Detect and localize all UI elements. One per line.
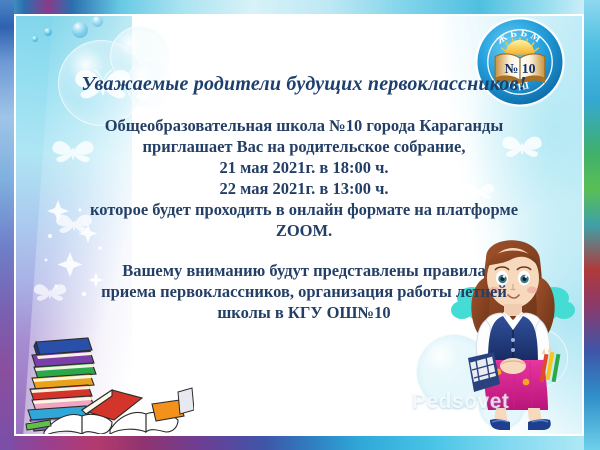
frame-left-strip bbox=[0, 0, 14, 450]
body-line: приема первоклассников, организация рабо… bbox=[74, 281, 534, 302]
bubble-decor bbox=[32, 36, 38, 42]
poster-text-block: Уважаемые родители будущих первоклассник… bbox=[74, 72, 534, 323]
body-line: 22 мая 2021г. в 13:00 ч. bbox=[74, 178, 534, 199]
title-line: первоклассников! bbox=[368, 73, 527, 95]
body-line: которое будет проходить в онлайн формате… bbox=[74, 199, 534, 220]
title-line: Уважаемые родители будущих bbox=[81, 73, 362, 95]
body-line: Общеобразовательная школа №10 города Кар… bbox=[74, 115, 534, 136]
poster-title: Уважаемые родители будущих первоклассник… bbox=[74, 72, 534, 97]
books-illustration bbox=[16, 336, 194, 436]
poster-canvas: № 10 ЖББМ ОШ bbox=[0, 0, 600, 450]
body-line: приглашает Вас на родительское собрание, bbox=[74, 136, 534, 157]
body-line: ZOOM. bbox=[74, 220, 534, 241]
frame-bottom-strip bbox=[0, 436, 600, 450]
poster-inner-canvas: № 10 ЖББМ ОШ bbox=[14, 14, 584, 436]
paragraph-spacer bbox=[74, 241, 534, 260]
frame-right-strip bbox=[584, 0, 600, 450]
poster-body-paragraph-2: Вашему вниманию будут представлены прави… bbox=[74, 260, 534, 323]
frame-top-strip bbox=[0, 0, 600, 14]
body-line: 21 мая 2021г. в 18:00 ч. bbox=[74, 157, 534, 178]
body-line: школы в КГУ ОШ№10 bbox=[74, 302, 534, 323]
body-line: Вашему вниманию будут представлены прави… bbox=[74, 260, 534, 281]
poster-body-paragraph-1: Общеобразовательная школа №10 города Кар… bbox=[74, 115, 534, 241]
